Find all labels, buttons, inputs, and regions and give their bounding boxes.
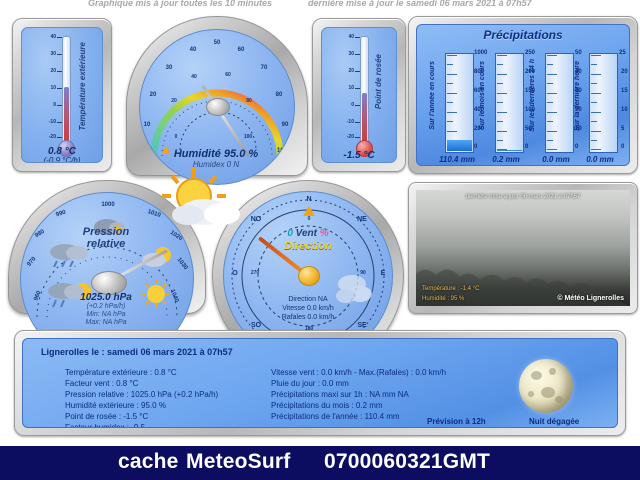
wind-deg-270: 270 xyxy=(248,270,262,276)
humidity-needle-hub xyxy=(206,98,230,116)
precipitation-panel[interactable]: Précipitations Sur l'année en cours 1000… xyxy=(408,16,638,174)
dew-scale-1: 30 xyxy=(332,51,354,57)
pressure-value: 1025.0 hPa xyxy=(8,292,204,303)
precip-label-hour: Sur la dernière heure xyxy=(574,61,581,131)
hum-outer-3: 30 xyxy=(162,65,176,71)
precip-bar-month xyxy=(495,53,524,153)
hum-outer-1: 10 xyxy=(140,122,154,128)
precip-y-scale: 1000 xyxy=(474,50,487,56)
temp-tick xyxy=(57,122,62,123)
dewpoint-tube xyxy=(360,36,369,146)
dew-tick xyxy=(355,137,360,138)
header-left-caption: Graphique mis à jour toutes les 10 minut… xyxy=(88,0,272,8)
pressure-max: Max: NA hPa xyxy=(8,319,204,326)
precip-h-scale: 20 xyxy=(621,69,628,75)
dew-scale-2: 20 xyxy=(332,68,354,74)
webcam-temp-overlay: Température : -1.4 °C xyxy=(422,286,479,292)
dew-scale-0: 40 xyxy=(332,34,354,40)
summary-right-2: Précipitations maxi sur 1h : NA mm NA xyxy=(271,389,551,400)
precip-m-scale: 0 xyxy=(525,144,528,150)
wind-direction-text: Direction NA xyxy=(224,296,392,303)
dew-scale-3: 10 xyxy=(332,85,354,91)
hum-outer-5: 50 xyxy=(210,40,224,46)
temp-scale-5: -10 xyxy=(34,119,56,125)
precip-label-year: Sur l'année en cours xyxy=(429,61,436,130)
temp-scale-2: 20 xyxy=(34,68,56,74)
summary-right-4: Précipitations de l'année : 110.4 mm xyxy=(271,411,551,422)
temp-scale-1: 30 xyxy=(34,51,56,57)
moon-phase-icon xyxy=(519,359,573,413)
temperature-trend: (-0.9 °C/h) xyxy=(22,156,102,163)
hum-outer-6: 60 xyxy=(234,47,248,53)
webcam-humidity-overlay: Humidité : 95 % xyxy=(422,296,464,302)
wind-north-marker xyxy=(303,206,315,216)
hum-outer-7: 70 xyxy=(257,65,271,71)
pressure-title-2: relative xyxy=(8,238,204,250)
header-right-caption: dernière mise à jour le samedi 06 mars 2… xyxy=(308,0,532,8)
humidity-value: Humidité 95.0 % xyxy=(126,148,306,160)
outdoor-temperature-gauge[interactable]: 40 30 20 10 0 -10 -20 Température extéri… xyxy=(12,18,112,172)
wind-cardinal-o: O xyxy=(228,270,242,277)
wind-cardinal-ne: NE xyxy=(354,216,370,223)
dewpoint-face: 40 30 20 10 0 -10 -20 Point de rosée -1.… xyxy=(321,27,397,163)
dew-tick xyxy=(355,71,360,72)
temp-tick xyxy=(57,105,62,106)
hum-inner-2: 40 xyxy=(188,74,200,80)
summary-headline: Lignerolles le : samedi 06 mars 2021 à 0… xyxy=(41,347,233,357)
forecast-value: Nuit dégagée xyxy=(529,417,579,426)
wind-cardinal-se: SE xyxy=(354,322,370,329)
temperature-face: 40 30 20 10 0 -10 -20 Température extéri… xyxy=(21,27,103,163)
hum-outer-9: 90 xyxy=(278,122,292,128)
summary-left-5: Facteur humidex : -9.5 xyxy=(65,422,355,428)
dew-tick xyxy=(355,88,360,89)
forecast-label: Prévision à 12h xyxy=(427,417,486,426)
precipitation-cumulative: Cumul 2020 : 737.4 mm xyxy=(417,165,629,166)
wind-title-word: Vent xyxy=(296,228,317,239)
hum-inner-0: 0 xyxy=(170,134,182,140)
pressure-trend: (+0.2 hPa/h) xyxy=(8,303,204,310)
hum-inner-3: 60 xyxy=(222,72,234,78)
precip-d-scale: 50 xyxy=(575,50,582,56)
dewpoint-gauge[interactable]: 40 30 20 10 0 -10 -20 Point de rosée -1.… xyxy=(312,18,406,172)
dew-tick xyxy=(355,105,360,106)
temperature-mercury xyxy=(64,87,69,144)
precip-fill-month xyxy=(497,150,522,151)
dew-tick xyxy=(355,122,360,123)
precip-h-scale: 10 xyxy=(621,107,628,113)
webcam-credit: © Météo Lignerolles xyxy=(557,295,624,302)
temp-scale-6: -20 xyxy=(34,134,56,140)
sun-cloud-icon xyxy=(158,168,244,237)
hum-outer-2: 20 xyxy=(146,92,160,98)
temp-tick xyxy=(57,137,62,138)
summary-right-3: Précipitations du mois : 0.2 mm xyxy=(271,400,551,411)
precip-ticks xyxy=(547,55,572,151)
beaufort-count: 0 xyxy=(287,228,293,239)
summary-right-1: Pluie du jour : 0.0 mm xyxy=(271,378,551,389)
precip-h-scale: 15 xyxy=(621,88,628,94)
summary-panel[interactable]: Lignerolles le : samedi 06 mars 2021 à 0… xyxy=(14,330,626,436)
summary-right-column: Vitesse vent : 0.0 km/h - Max.(Rafales) … xyxy=(271,367,551,422)
wind-deg-0: 0 xyxy=(302,216,316,222)
bottombar-site-name: MeteoSurf xyxy=(186,450,290,474)
temperature-gauge-title: Température extérieure xyxy=(78,42,87,131)
hum-outer-4: 40 xyxy=(186,47,200,53)
dew-scale-6: -20 xyxy=(332,134,354,140)
dew-tick xyxy=(355,54,360,55)
precip-h-scale: 25 xyxy=(619,50,626,56)
precip-h-scale: 5 xyxy=(621,126,624,132)
pressure-min: Min: NA hPa xyxy=(8,311,204,318)
bottom-status-bar: cache MeteoSurf 0700060321GMT xyxy=(0,446,640,480)
dewpoint-value: -1.5 °C xyxy=(322,150,396,161)
beaufort-pct: % xyxy=(320,228,329,239)
precip-m-scale: 250 xyxy=(525,50,535,56)
hum-outer-8: 80 xyxy=(272,92,286,98)
hum-inner-1: 20 xyxy=(168,98,180,104)
dew-scale-4: 0 xyxy=(332,102,354,108)
temp-scale-3: 10 xyxy=(34,85,56,91)
dew-scale-5: -10 xyxy=(332,119,354,125)
wind-cardinal-e: E xyxy=(376,270,390,277)
temp-tick xyxy=(57,88,62,89)
hum-inner-5: 100 xyxy=(241,134,255,140)
hum-inner-4: 80 xyxy=(243,98,255,104)
precipitation-face: Précipitations Sur l'année en cours 1000… xyxy=(416,24,630,166)
temp-tick xyxy=(57,71,62,72)
temperature-tube xyxy=(62,36,71,146)
wind-cardinal-so: SO xyxy=(248,322,264,329)
summary-right-0: Vitesse vent : 0.0 km/h - Max.(Rafales) … xyxy=(271,367,551,378)
wind-gust-text: Rafales 0.0 km/h xyxy=(224,314,392,321)
precip-bar-hour xyxy=(589,53,618,153)
bottombar-cache-label: cache xyxy=(118,450,179,474)
webcam-image: dernière mise à jour 06 mars 2021 à 07h5… xyxy=(416,190,630,306)
press-tick-1000: 1000 xyxy=(97,202,119,208)
temp-tick xyxy=(57,54,62,55)
precip-ticks xyxy=(591,55,616,151)
wind-speed-text: Vitesse 0.0 km/h xyxy=(224,305,392,312)
dewpoint-gauge-title: Point de rosée xyxy=(374,54,383,109)
precip-bar-year xyxy=(445,53,474,153)
precip-ticks xyxy=(497,55,522,151)
precip-fill-year xyxy=(447,140,472,151)
wind-title-2: Direction xyxy=(224,240,392,252)
humidity-gauge[interactable]: 0 10 20 30 40 50 60 70 80 90 100 0 20 40… xyxy=(126,16,306,174)
wind-cardinal-n: N xyxy=(302,196,316,203)
precipitation-title: Précipitations xyxy=(417,28,629,42)
precip-d-scale: 0 xyxy=(575,144,578,150)
temp-tick xyxy=(57,37,62,38)
wind-needle-hub xyxy=(298,266,320,286)
summary-face: Lignerolles le : samedi 06 mars 2021 à 0… xyxy=(22,338,618,428)
webcam-panel[interactable]: dernière mise à jour 06 mars 2021 à 07h5… xyxy=(408,182,638,314)
precip-label-24h: Sur les dernières 24 h xyxy=(529,59,536,132)
dew-tick xyxy=(355,37,360,38)
wind-title-1: 0 Vent % xyxy=(224,228,392,239)
weather-dashboard: Graphique mis à jour toutes les 10 minut… xyxy=(0,0,640,480)
bottombar-code: 0700060321GMT xyxy=(324,450,490,474)
precip-ticks xyxy=(447,55,472,151)
precip-bar-24h xyxy=(545,53,574,153)
dewpoint-mercury xyxy=(362,93,367,144)
precip-label-month: Sur le mois en cours xyxy=(479,61,486,130)
precip-y-scale: 0 xyxy=(474,144,477,150)
temp-scale-4: 0 xyxy=(34,102,56,108)
precip-value-hour: 0.0 mm xyxy=(569,155,630,164)
precip-h-scale: 0 xyxy=(621,144,624,150)
temp-scale-0: 40 xyxy=(34,34,56,40)
wind-cardinal-no: NO xyxy=(248,216,264,223)
